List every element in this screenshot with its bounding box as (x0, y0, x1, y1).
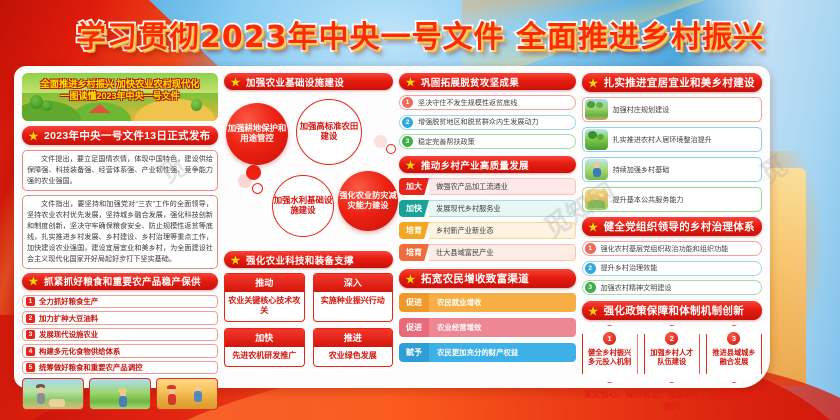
policy-hex[interactable]: 1 健全乡村振兴多元投入机制 (582, 325, 638, 383)
circle-item[interactable]: 强化农业防灾减灾能力建设 (338, 171, 398, 231)
item-label: 做强农产品加工流通业 (429, 178, 576, 195)
item-tag: 培育 (399, 222, 429, 239)
farmer-harvest-photo (22, 378, 84, 410)
list-item[interactable]: 培育 乡村新产业新业态 (399, 222, 576, 239)
list-item[interactable]: 加强村庄规划建设 (582, 97, 762, 122)
poster-title: 学习贯彻2023年中央一号文件 全面推进乡村振兴 (0, 12, 840, 56)
item-number: 2 (585, 263, 596, 274)
item-label: 扎实推进农村人居环境整治提升 (613, 135, 712, 145)
item-label: 发展现代设施农业 (39, 329, 98, 340)
item-tag: 加大 (399, 178, 429, 195)
technology-card-grid: 推动 农业关键核心技术攻关 深入 实施种业振兴行动 加快 先进农机研发推广 推进… (224, 273, 393, 367)
item-number: 1 (402, 97, 413, 108)
tech-card[interactable]: 推进 农业绿色发展 (313, 328, 394, 367)
banner-line-1: 全面推进乡村振兴 加快农业农村现代化 (28, 78, 212, 90)
column-infrastructure: ★ 加强农业基础设施建设 加强耕地保护和用途管控 加强高标准农田建设 加强水利基… (224, 73, 393, 382)
income-item-list: 促进 农民就业增收 促进 农业经营增效 赋予 农民更加充分的财产权益 (399, 293, 576, 362)
banner-line-2: 一图读懂2023年中央一号文件 (28, 90, 212, 102)
item-label: 统筹做好粮食和重要农产品调控 (39, 362, 142, 373)
list-item[interactable]: 3 稳定完善帮扶政策 (399, 134, 576, 149)
item-label: 加强乡村人才队伍建设 (645, 348, 699, 367)
header-policy: ★ 强化政策保障和体制机制创新 (582, 301, 762, 320)
poster-title-text: 学习贯彻2023年中央一号文件 全面推进乡村振兴 (76, 12, 764, 56)
star-icon: ★ (404, 272, 417, 285)
header-poverty: ★ 巩固拓展脱贫攻坚成果 (399, 73, 576, 90)
item-tag: 促进 (399, 318, 429, 337)
header-industry-label: 推动乡村产业高质量发展 (421, 158, 529, 172)
overview-paragraph-2: 文件指出，要坚持和加强党对“三农”工作的全面领导，坚持农业农村优先发展，坚持城乡… (22, 195, 218, 269)
star-icon: ★ (229, 75, 242, 88)
item-label: 农民就业增收 (429, 293, 576, 312)
column-village-governance: ★ 扎实推进宜居宜业和美乡村建设 加强村庄规划建设 扎实推进农村人居环境整治提升 (582, 73, 762, 382)
star-icon: ★ (27, 129, 40, 142)
item-number: 3 (26, 330, 35, 339)
item-tag: 赋予 (399, 343, 429, 362)
decorative-dot (374, 135, 387, 148)
decorative-dot (386, 144, 396, 154)
item-label: 构建多元化食物供给体系 (39, 346, 120, 357)
tech-card-body: 先进农机研发推广 (225, 347, 304, 366)
industry-item-list: 加大 做强农产品加工流通业 加快 发展现代乡村服务业 培育 乡村新产业新业态 培… (399, 178, 576, 261)
header-governance: ★ 健全党组织领导的乡村治理体系 (582, 217, 762, 236)
list-item[interactable]: 4 构建多元化食物供给体系 (22, 344, 218, 358)
item-label: 健全乡村振兴多元投入机制 (583, 348, 637, 367)
item-label: 加强农村精神文明建设 (601, 283, 672, 293)
item-number: 5 (26, 363, 35, 372)
village-item-list: 加强村庄规划建设 扎实推进农村人居环境整治提升 持续加强乡村基础 (582, 97, 762, 212)
star-icon: ★ (404, 158, 417, 171)
poverty-item-list: 1 坚决守住不发生规模性返贫底线 2 增强脱贫地区和脱贫群众内生发展动力 3 稳… (399, 95, 576, 149)
header-infrastructure-label: 加强农业基础设施建设 (246, 75, 344, 89)
item-label: 坚决守住不发生规模性返贫底线 (418, 98, 517, 108)
tech-card[interactable]: 推动 农业关键核心技术攻关 (224, 273, 305, 322)
header-governance-label: 健全党组织领导的乡村治理体系 (604, 219, 755, 234)
item-label: 农民更加充分的财产权益 (429, 343, 576, 362)
item-label: 提升基本公共服务能力 (613, 195, 684, 205)
header-industry: ★ 推动乡村产业高质量发展 (399, 156, 576, 173)
list-item[interactable]: 加快 发展现代乡村服务业 (399, 200, 576, 217)
overview-paragraph-1: 文件提出，要立足国情农情，体现中国特色，建设供给保障强、科技装备强、经营体系强、… (22, 150, 218, 191)
header-release: ★ 2023年中央一号文件13日正式发布 (22, 126, 218, 145)
banner-text: 全面推进乡村振兴 加快农业农村现代化 一图读懂2023年中央一号文件 (22, 73, 218, 103)
item-number: 1 (603, 332, 616, 345)
tech-card[interactable]: 深入 实施种业振兴行动 (313, 273, 394, 322)
list-item[interactable]: 2 加力扩种大豆油料 (22, 311, 218, 325)
header-infrastructure: ★ 加强农业基础设施建设 (224, 73, 393, 90)
item-number: 2 (26, 314, 35, 323)
tech-card-body: 实施种业振兴行动 (314, 292, 393, 311)
item-number: 3 (402, 136, 413, 147)
tech-card-body: 农业关键核心技术攻关 (225, 292, 304, 322)
item-label: 壮大县域富民产业 (429, 244, 576, 261)
item-label: 加强村庄规划建设 (613, 105, 670, 115)
item-number: 3 (585, 282, 596, 293)
item-label: 农业经营增效 (429, 318, 576, 337)
item-label: 提升乡村治理效能 (601, 263, 658, 273)
list-item[interactable]: 2 增强脱贫地区和脱贫群众内生发展动力 (399, 115, 576, 130)
item-label: 发展现代乡村服务业 (429, 200, 576, 217)
star-icon: ★ (587, 76, 600, 89)
content-card: 全面推进乡村振兴 加快农业农村现代化 一图读懂2023年中央一号文件 ★ 202… (14, 66, 770, 388)
circle-item[interactable]: 加强高标准农田建设 (296, 99, 362, 165)
header-village-label: 扎实推进宜居宜业和美乡村建设 (604, 75, 755, 90)
wheat-harvest-photo (156, 378, 218, 410)
list-item[interactable]: 1 强化农村基层党组织政治功能和组织功能 (582, 241, 762, 256)
header-technology: ★ 强化农业科技和装备支撑 (224, 251, 393, 268)
header-policy-label: 强化政策保障和体制机制创新 (604, 303, 744, 318)
header-poverty-label: 巩固拓展脱贫攻坚成果 (421, 75, 519, 89)
list-item[interactable]: 1 全力抓好粮食生产 (22, 295, 218, 309)
column-poverty-industry: ★ 巩固拓展脱贫攻坚成果 1 坚决守住不发生规模性返贫底线 2 增强脱贫地区和脱… (399, 73, 576, 382)
list-item[interactable]: 促进 农业经营增效 (399, 318, 576, 337)
star-icon: ★ (587, 304, 600, 317)
rice-field-photo (89, 378, 151, 410)
item-label: 强化农村基层党组织政治功能和组织功能 (601, 244, 729, 254)
tech-card-head: 加快 (225, 329, 304, 347)
item-number: 2 (402, 117, 413, 128)
item-label: 推进县域城乡融合发展 (707, 348, 761, 367)
governance-item-list: 1 强化农村基层党组织政治功能和组织功能 2 提升乡村治理效能 3 加强农村精神… (582, 241, 762, 295)
list-item[interactable]: 扎实推进农村人居环境整治提升 (582, 127, 762, 152)
list-item[interactable]: 1 坚决守住不发生规模性返贫底线 (399, 95, 576, 110)
tech-card-head: 推进 (314, 329, 393, 347)
header-grain-security: ★ 抓紧抓好粮食和重要农产品稳产保供 (22, 273, 218, 290)
circle-item[interactable]: 加强耕地保护和用途管控 (226, 103, 288, 165)
item-tag: 促进 (399, 293, 429, 312)
list-item[interactable]: 5 统筹做好粮食和重要农产品调控 (22, 361, 218, 375)
item-tag: 加快 (399, 200, 429, 217)
tech-card[interactable]: 加快 先进农机研发推广 (224, 328, 305, 367)
list-item[interactable]: 加大 做强农产品加工流通业 (399, 178, 576, 195)
header-village: ★ 扎实推进宜居宜业和美乡村建设 (582, 73, 762, 92)
list-item[interactable]: 培育 壮大县域富民产业 (399, 244, 576, 261)
list-item[interactable]: 2 提升乡村治理效能 (582, 261, 762, 276)
header-technology-label: 强化农业科技和装备支撑 (246, 253, 354, 267)
item-label: 全力抓好粮食生产 (39, 296, 98, 307)
header-income-label: 拓宽农民增收致富渠道 (421, 271, 529, 286)
list-item[interactable]: 3 加强农村精神文明建设 (582, 280, 762, 295)
infrastructure-circle-diagram: 加强耕地保护和用途管控 加强高标准农田建设 加强水利基础设施建设 强化农业防灾减… (224, 95, 393, 247)
star-icon: ★ (404, 75, 417, 88)
policy-hex[interactable]: 3 推进县域城乡融合发展 (706, 325, 762, 383)
intro-banner: 全面推进乡村振兴 加快农业农村现代化 一图读懂2023年中央一号文件 (22, 73, 218, 121)
public-service-icon (585, 189, 608, 210)
policy-hex[interactable]: 2 加强乡村人才队伍建设 (644, 325, 700, 383)
eco-environment-icon (585, 129, 608, 150)
item-number: 1 (585, 243, 596, 254)
column-overview: 全面推进乡村振兴 加快农业农村现代化 一图读懂2023年中央一号文件 ★ 202… (22, 73, 218, 382)
grain-item-list: 1 全力抓好粮食生产 2 加力扩种大豆油料 3 发展现代设施农业 4 构建多元化… (22, 295, 218, 375)
decorative-dot (246, 165, 261, 180)
tech-card-body: 农业绿色发展 (314, 347, 393, 366)
photo-strip (22, 378, 218, 410)
header-release-label: 2023年中央一号文件13日正式发布 (44, 128, 210, 143)
list-item[interactable]: 持续加强乡村基础 (582, 157, 762, 182)
item-tag: 培育 (399, 244, 429, 261)
item-number: 4 (26, 347, 35, 356)
item-label: 乡村新产业新业态 (429, 222, 576, 239)
list-item[interactable]: 促进 农民就业增收 (399, 293, 576, 312)
item-number: 3 (727, 332, 740, 345)
star-icon: ★ (229, 253, 242, 266)
circle-item[interactable]: 加强水利基础设施建设 (272, 175, 334, 237)
star-icon: ★ (587, 220, 600, 233)
star-icon: ★ (27, 275, 40, 288)
decorative-dot (252, 183, 263, 194)
closing-slogan: 坚定信心、踔厉奋发、埋头苦干，全面推进乡村振兴 (582, 388, 762, 412)
item-number: 1 (26, 297, 35, 306)
item-label: 增强脱贫地区和脱贫群众内生发展动力 (418, 117, 539, 127)
item-number: 2 (665, 332, 678, 345)
item-label: 加力扩种大豆油料 (39, 313, 98, 324)
list-item[interactable]: 3 发展现代设施农业 (22, 328, 218, 342)
farmer-infrastructure-icon (585, 159, 608, 180)
policy-hex-group: 1 健全乡村振兴多元投入机制 2 加强乡村人才队伍建设 3 推进县域城乡融合发展 (582, 325, 762, 383)
header-grain-label: 抓紧抓好粮食和重要农产品稳产保供 (44, 274, 201, 288)
header-income: ★ 拓宽农民增收致富渠道 (399, 269, 576, 288)
tech-card-head: 推动 (225, 274, 304, 292)
item-label: 稳定完善帮扶政策 (418, 137, 475, 147)
item-label: 持续加强乡村基础 (613, 165, 670, 175)
tech-card-head: 深入 (314, 274, 393, 292)
village-planning-icon (585, 99, 608, 120)
list-item[interactable]: 赋予 农民更加充分的财产权益 (399, 343, 576, 362)
list-item[interactable]: 提升基本公共服务能力 (582, 187, 762, 212)
